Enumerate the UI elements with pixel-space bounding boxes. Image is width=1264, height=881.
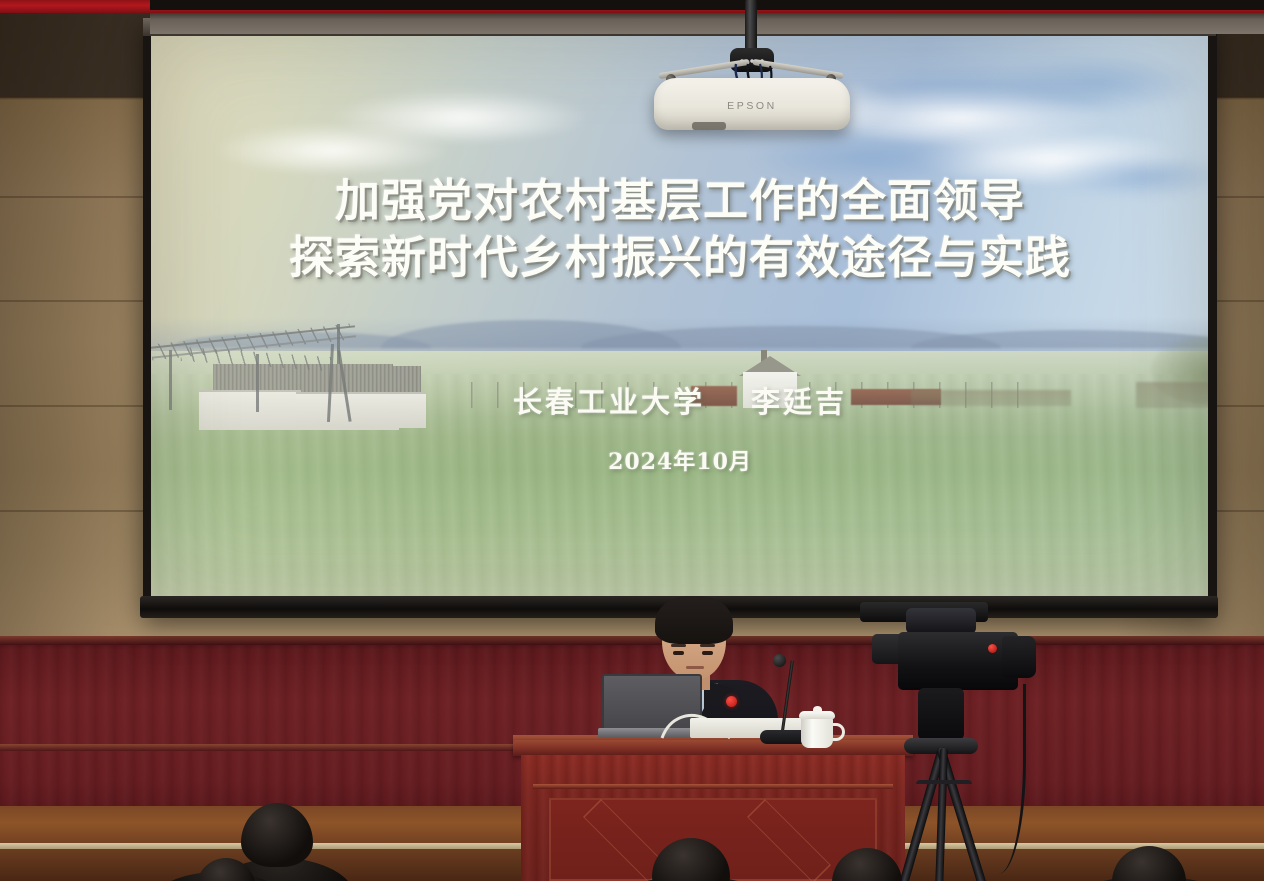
teacup-knob	[813, 706, 822, 713]
video-camera-rig	[860, 588, 1120, 881]
microphone-head	[773, 654, 786, 667]
speaker-mouth	[686, 666, 704, 669]
slide-presenter-line: 长春工业大学李廷吉	[151, 379, 1209, 421]
slide-presenter-name: 李廷吉	[751, 385, 847, 419]
slide-affiliation: 长春工业大学	[513, 385, 705, 419]
podium-diamond-inset	[747, 799, 831, 881]
speaker-eye-right	[702, 651, 713, 655]
microphone-stem	[780, 661, 794, 739]
microphone	[760, 660, 800, 742]
camera-lens-hood	[1002, 636, 1036, 678]
screen-border-right	[1208, 30, 1217, 608]
lecture-hall-scene: 加强党对农村基层工作的全面领导 探索新时代乡村振兴的有效途径与实践 长春工业大学…	[0, 0, 1264, 881]
slide-title: 加强党对农村基层工作的全面领导 探索新时代乡村振兴的有效途径与实践	[151, 172, 1209, 286]
podium-top-rail	[513, 740, 913, 756]
wainscot-rail-molding	[0, 744, 520, 751]
ceiling-projector: EPSON	[640, 0, 900, 130]
slide-date: 2024年10月	[151, 444, 1209, 476]
speaker-brow-right	[700, 644, 715, 647]
podium-lip-molding	[533, 784, 893, 789]
projector-brand-label: EPSON	[654, 100, 850, 112]
camera-mount-plate	[906, 608, 976, 634]
projector-body: EPSON	[654, 78, 850, 130]
camera-body	[898, 632, 1018, 690]
speaker-brow-left	[671, 644, 686, 647]
lapel-pin-icon	[726, 696, 737, 707]
camera-cable	[980, 684, 1026, 874]
teacup-body	[801, 716, 833, 748]
teacup	[795, 706, 847, 748]
tripod-spreader	[916, 780, 972, 810]
screen-border-left	[143, 30, 151, 608]
speaker-hair	[655, 596, 733, 644]
record-indicator-icon	[988, 644, 997, 653]
speaker-eye-left	[673, 651, 684, 655]
projector-lens	[692, 122, 726, 130]
tripod-fluid-head	[918, 688, 964, 740]
